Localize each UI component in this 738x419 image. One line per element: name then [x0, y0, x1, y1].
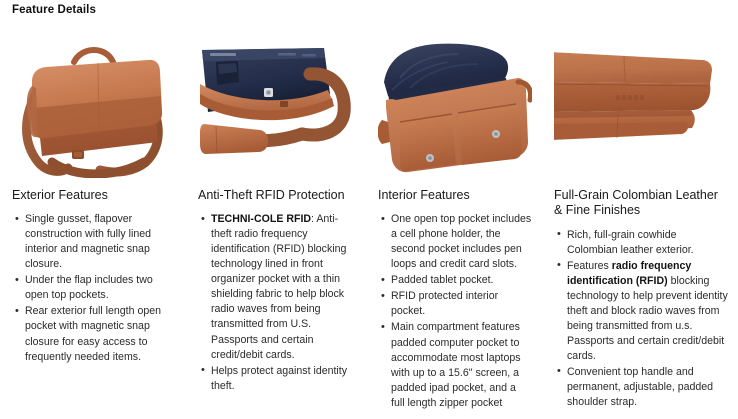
bullet-text: Rear exterior full length open pocket wi…: [25, 305, 161, 362]
leather-grain-closeup-photo: [554, 38, 728, 178]
image-frame: [198, 38, 356, 178]
bullet-text: Helps protect against identity theft.: [211, 365, 347, 392]
list-item: Single gusset, flapover construction wit…: [25, 212, 176, 272]
bag-interior-lining-photo: [198, 38, 356, 178]
feature-columns: Exterior Features Single gusset, flapove…: [0, 38, 738, 412]
image-frame: [12, 38, 176, 178]
list-item: One open top pocket includes a cell phon…: [391, 212, 532, 272]
bullet-text: : Anti-theft radio frequency identificat…: [211, 213, 346, 360]
bullet-text: Padded tablet pocket.: [391, 274, 493, 286]
feature-column-leather: Full-Grain Colombian Leather & Fine Fini…: [542, 38, 738, 411]
list-item: Convenient top handle and permanent, adj…: [567, 365, 728, 410]
bullet-text: Under the flap includes two open top poc…: [25, 274, 153, 301]
list-item: Main compartment features padded compute…: [391, 320, 532, 410]
feature-column-rfid: Anti-Theft RFID Protection TECHNI-COLE R…: [186, 38, 366, 395]
bullet-text: Single gusset, flapover construction wit…: [25, 213, 151, 270]
feature-column-interior: Interior Features One open top pocket in…: [366, 38, 542, 412]
column-heading: Interior Features: [378, 188, 532, 203]
list-item: Padded tablet pocket.: [391, 273, 532, 288]
image-frame: [378, 38, 532, 178]
page-title: Feature Details: [12, 4, 96, 16]
bullet-text: blocking technology to help prevent iden…: [567, 275, 728, 362]
list-item: Helps protect against identity theft.: [211, 364, 356, 394]
list-item: Rich, full-grain cowhide Colombian leath…: [567, 228, 728, 258]
column-heading: Exterior Features: [12, 188, 176, 203]
bullet-text: Rich, full-grain cowhide Colombian leath…: [567, 229, 694, 256]
column-heading: Full-Grain Colombian Leather & Fine Fini…: [554, 188, 728, 219]
bullet-text: RFID protected interior pocket.: [391, 290, 498, 317]
feature-details-page: Feature Details: [0, 0, 738, 419]
bullet-text: Convenient top handle and permanent, adj…: [567, 366, 713, 408]
list-item: Features radio frequency identification …: [567, 259, 728, 364]
feature-list-interior: One open top pocket includes a cell phon…: [378, 212, 532, 410]
list-item: Under the flap includes two open top poc…: [25, 273, 176, 303]
column-heading: Anti-Theft RFID Protection: [198, 188, 356, 203]
image-frame: [554, 38, 728, 178]
feature-column-exterior: Exterior Features Single gusset, flapove…: [0, 38, 186, 366]
bag-open-with-laptop-photo: [378, 38, 532, 178]
messenger-bag-closed-photo: [12, 38, 176, 178]
feature-list-exterior: Single gusset, flapover construction wit…: [12, 212, 176, 364]
feature-list-rfid: TECHNI-COLE RFID: Anti-theft radio frequ…: [198, 212, 356, 393]
bullet-text: One open top pocket includes a cell phon…: [391, 213, 531, 270]
list-item: Rear exterior full length open pocket wi…: [25, 304, 176, 364]
bullet-text-prefix: Features: [567, 260, 612, 272]
list-item: TECHNI-COLE RFID: Anti-theft radio frequ…: [211, 212, 356, 362]
bullet-text: Main compartment features padded compute…: [391, 321, 521, 408]
list-item: RFID protected interior pocket.: [391, 289, 532, 319]
feature-list-leather: Rich, full-grain cowhide Colombian leath…: [554, 228, 728, 410]
bullet-bold-lead: TECHNI-COLE RFID: [211, 213, 311, 225]
